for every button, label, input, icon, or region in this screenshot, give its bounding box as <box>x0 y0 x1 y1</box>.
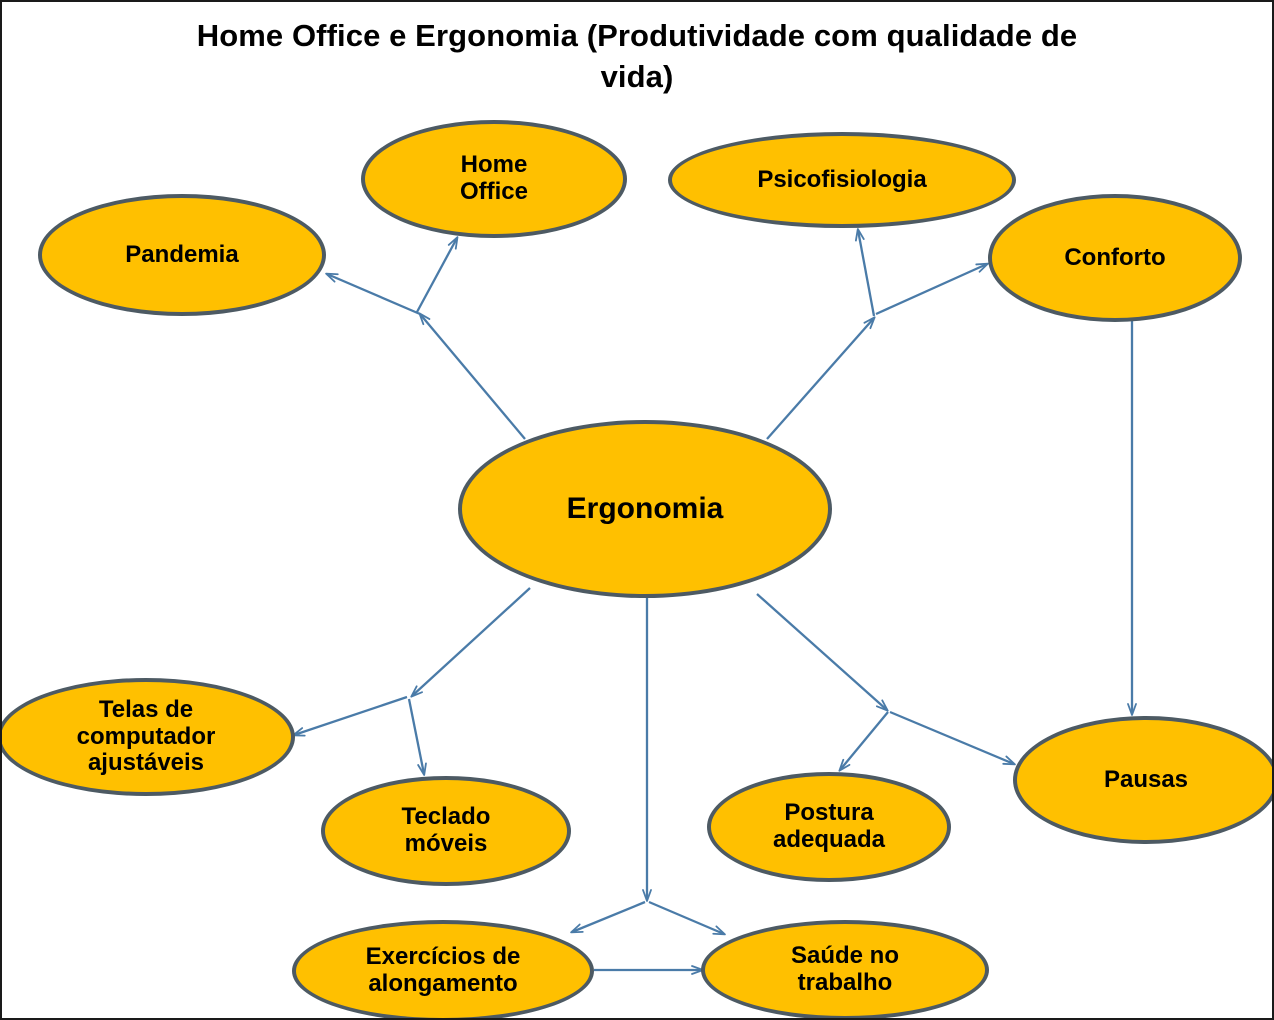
concept-map-canvas: Home Office e Ergonomia (Produtividade c… <box>0 0 1274 1020</box>
node-conforto-label: Conforto <box>1064 245 1165 272</box>
node-saude-trabalho-label: Saúde no trabalho <box>791 943 899 997</box>
node-psicofisiologia[interactable]: Psicofisiologia <box>668 132 1016 228</box>
node-exercicios-alongamento[interactable]: Exercícios de alongamento <box>292 920 594 1020</box>
node-exercicios-alongamento-label: Exercícios de alongamento <box>366 944 521 998</box>
edge-junction-postura <box>840 712 888 770</box>
node-home-office[interactable]: Home Office <box>361 120 627 238</box>
node-telas-computador-label: Telas de computador ajustáveis <box>77 697 216 778</box>
edge-junction-conforto <box>876 264 987 314</box>
node-teclado-moveis-label: Teclado móveis <box>402 804 491 858</box>
node-saude-trabalho[interactable]: Saúde no trabalho <box>701 920 989 1020</box>
edge-junction-teclado <box>409 699 424 774</box>
edge-ergonomia-upper-left-junction <box>420 314 525 439</box>
edge-junction-psicofisiologia <box>858 230 874 316</box>
node-teclado-moveis[interactable]: Teclado móveis <box>321 776 571 886</box>
edge-ergonomia-lower-right-junction <box>757 594 887 710</box>
node-ergonomia-label: Ergonomia <box>567 492 724 526</box>
edge-junction-pandemia <box>327 274 420 314</box>
node-telas-computador[interactable]: Telas de computador ajustáveis <box>0 678 295 796</box>
edge-ergonomia-upper-right-junction <box>767 318 874 439</box>
node-pandemia[interactable]: Pandemia <box>38 194 326 316</box>
node-pausas-label: Pausas <box>1104 767 1188 794</box>
edge-junction-saude <box>649 902 724 934</box>
node-ergonomia[interactable]: Ergonomia <box>458 420 832 598</box>
node-pausas[interactable]: Pausas <box>1013 716 1274 844</box>
node-pandemia-label: Pandemia <box>125 242 238 269</box>
node-postura-adequada[interactable]: Postura adequada <box>707 772 951 882</box>
edge-junction-pausas <box>890 712 1014 764</box>
edge-junction-exercicios <box>572 902 645 932</box>
edge-junction-home-office <box>417 238 457 312</box>
node-home-office-label: Home Office <box>460 152 528 206</box>
page-title: Home Office e Ergonomia (Produtividade c… <box>2 16 1272 98</box>
edge-junction-telas <box>294 697 407 735</box>
node-psicofisiologia-label: Psicofisiologia <box>757 167 926 194</box>
node-postura-adequada-label: Postura adequada <box>773 800 885 854</box>
edge-ergonomia-lower-left-junction <box>412 588 530 696</box>
node-conforto[interactable]: Conforto <box>988 194 1242 322</box>
